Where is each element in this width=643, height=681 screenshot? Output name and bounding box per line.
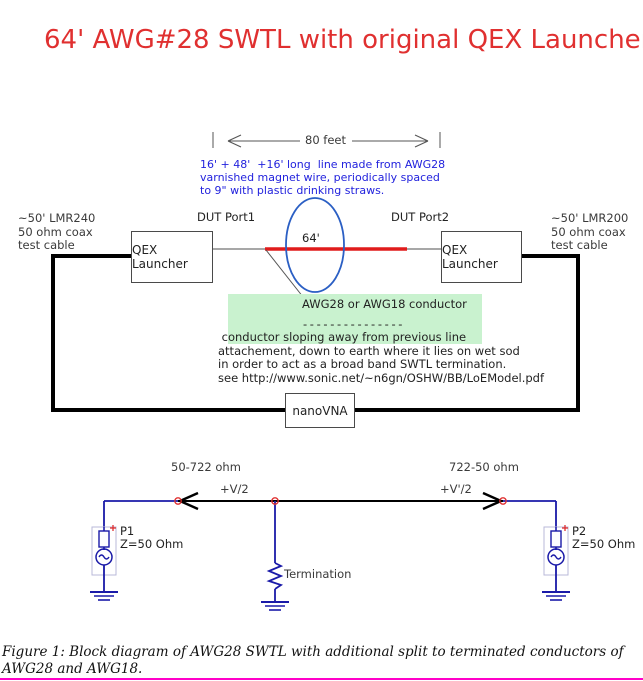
right-voltage-label: +V'/2	[440, 483, 472, 497]
termination-ground-icon	[261, 602, 289, 610]
right-impedance-label: 722-50 ohm	[449, 461, 519, 475]
left-cable-label: ~50' LMR240 50 ohm coax test cable	[18, 212, 95, 253]
dut-port2-label: DUT Port2	[391, 211, 449, 225]
left-voltage-label: +V/2	[220, 483, 249, 497]
right-cable-label: ~50' LMR200 50 ohm coax test cable	[551, 212, 628, 253]
diagram-canvas: 64' AWG#28 SWTL with original QEX Launch…	[0, 0, 643, 681]
qex-launcher-right-box[interactable]: QEX Launcher	[441, 231, 522, 283]
left-impedance-label: 50-722 ohm	[171, 461, 241, 475]
schematic-wire-right	[503, 501, 556, 527]
dut-port1-label: DUT Port1	[197, 211, 255, 225]
qex-launcher-right-label: QEX Launcher	[442, 243, 521, 271]
termination-label: Termination	[284, 568, 351, 582]
dimension-label: 80 feet	[305, 134, 346, 148]
green-note-label: AWG28 or AWG18 conductor	[302, 298, 467, 312]
port1-impedance-label: Z=50 Ohm	[120, 538, 183, 552]
schematic-wire-left	[104, 501, 178, 527]
caption-underline	[0, 678, 643, 680]
wire-note: 16' + 48' +16' long line made from AWG28…	[200, 158, 445, 197]
nanovna-box[interactable]: nanoVNA	[285, 393, 355, 428]
line-length-label: 64'	[302, 232, 320, 246]
port1-symbol	[90, 525, 118, 600]
port2-impedance-label: Z=50 Ohm	[572, 538, 635, 552]
nanovna-label: nanoVNA	[292, 404, 347, 418]
termination-resistor-icon	[269, 563, 281, 589]
qex-launcher-left-label: QEX Launcher	[132, 243, 212, 271]
figure-caption: Figure 1: Block diagram of AWG28 SWTL wi…	[2, 644, 643, 678]
termination-note: conductor sloping away from previous lin…	[218, 331, 544, 385]
port2-symbol	[542, 525, 570, 600]
qex-launcher-left-box[interactable]: QEX Launcher	[131, 231, 213, 283]
